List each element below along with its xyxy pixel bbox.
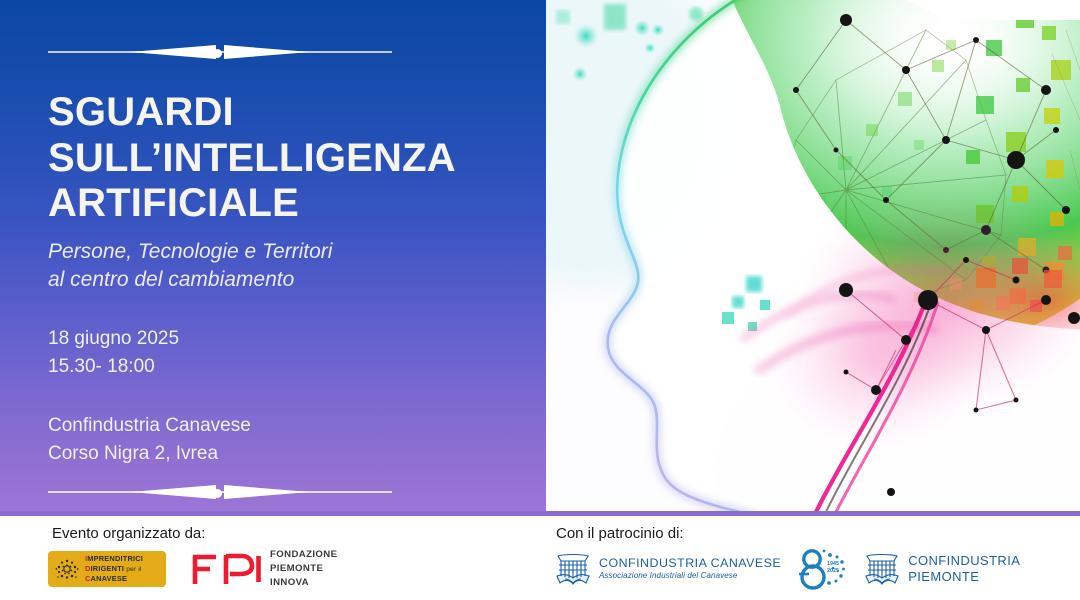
fondazione-piemonte-innova-logo: FONDAZIONE PIEMONTE INNOVA xyxy=(190,548,337,590)
ai-head-profile-network-artwork xyxy=(546,0,1080,516)
venue-name: Confindustria Canavese xyxy=(48,412,251,440)
imprenditrici-dirigenti-canavese-logo: IMPRENDITRICI DIRIGENTI per il CANAVESE xyxy=(48,551,166,587)
poster-footer: Evento organizzato da: xyxy=(0,516,1080,600)
patron-logos: CONFINDUSTRIA CANAVESE Associazione Indu… xyxy=(554,548,1020,590)
confindustria-canavese-logo: CONFINDUSTRIA CANAVESE Associazione Indu… xyxy=(554,552,781,586)
band-divider-rule xyxy=(0,511,1080,516)
idc-wordmark: IMPRENDITRICI DIRIGENTI per il CANAVESE xyxy=(85,554,143,583)
confindustria-canavese-wordmark: CONFINDUSTRIA CANAVESE Associazione Indu… xyxy=(599,557,781,581)
cc-title: CONFINDUSTRIA CANAVESE xyxy=(599,557,781,571)
poster-top-band: SGUARDI SULL’INTELLIGENZA ARTIFICIALE Pe… xyxy=(0,0,1080,516)
poster-subtitle: Persone, Tecnologie e Territori al centr… xyxy=(48,238,332,294)
event-date: 18 giugno 2025 xyxy=(48,325,179,353)
subtitle-line-1: Persone, Tecnologie e Territori xyxy=(48,238,332,266)
poster-info-panel: SGUARDI SULL’INTELLIGENZA ARTIFICIALE Pe… xyxy=(0,0,546,516)
cp-line-1: CONFINDUSTRIA xyxy=(908,553,1020,569)
eighty-anniversary-icon: 1945 2025 xyxy=(797,548,847,590)
confindustria-eagle-icon xyxy=(554,552,592,586)
anniversary-year-to: 2025 xyxy=(827,568,839,574)
organizers-heading: Evento organizzato da: xyxy=(52,525,205,542)
patrons-section: Con il patrocinio di: xyxy=(546,516,1080,600)
fpi-line-3: INNOVA xyxy=(270,576,337,590)
eighty-years-anniversary-logo: 1945 2025 xyxy=(797,548,847,590)
title-line-2: SULL’INTELLIGENZA xyxy=(48,136,518,182)
organizers-section: Evento organizzato da: xyxy=(0,516,546,600)
event-datetime: 18 giugno 2025 15.30- 18:00 xyxy=(48,325,179,380)
title-line-1: SGUARDI xyxy=(48,90,518,136)
fpi-line-1: FONDAZIONE xyxy=(270,548,337,562)
organizer-logos: IMPRENDITRICI DIRIGENTI per il CANAVESE xyxy=(48,548,337,590)
anniversary-year-from: 1945 xyxy=(827,561,839,567)
cp-line-2: PIEMONTE xyxy=(908,569,1020,585)
confindustria-piemonte-logo: CONFINDUSTRIA PIEMONTE xyxy=(863,552,1020,586)
dot-cluster-icon xyxy=(54,556,80,582)
divider-ornament-icon xyxy=(48,44,392,60)
fpi-monogram-icon xyxy=(190,552,262,586)
subtitle-line-2: al centro del cambiamento xyxy=(48,266,332,294)
event-venue: Confindustria Canavese Corso Nigra 2, Iv… xyxy=(48,412,251,467)
venue-address: Corso Nigra 2, Ivrea xyxy=(48,440,251,468)
artwork-svg xyxy=(546,0,1080,516)
fpi-wordmark: FONDAZIONE PIEMONTE INNOVA xyxy=(270,548,337,590)
confindustria-piemonte-wordmark: CONFINDUSTRIA PIEMONTE xyxy=(908,553,1020,586)
event-time: 15.30- 18:00 xyxy=(48,353,179,381)
confindustria-eagle-icon xyxy=(863,552,901,586)
divider-ornament-icon xyxy=(48,484,392,500)
cc-subtitle: Associazione Industriali del Canavese xyxy=(599,572,781,581)
page-title: SGUARDI SULL’INTELLIGENZA ARTIFICIALE xyxy=(48,90,518,227)
patrons-heading: Con il patrocinio di: xyxy=(556,525,684,542)
title-line-3: ARTIFICIALE xyxy=(48,181,518,227)
event-poster: SGUARDI SULL’INTELLIGENZA ARTIFICIALE Pe… xyxy=(0,0,1080,600)
fpi-line-2: PIEMONTE xyxy=(270,562,337,576)
